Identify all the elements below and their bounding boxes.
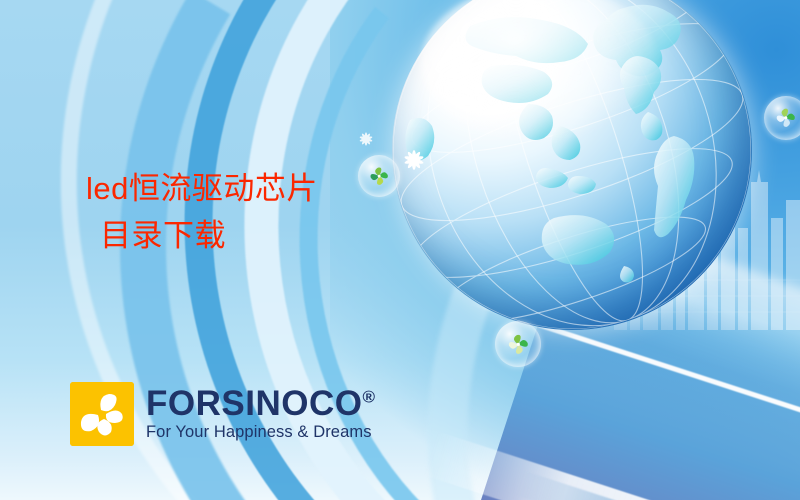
headline: led恒流驱动芯片 目录下载 bbox=[86, 165, 416, 259]
headline-line-2: 目录下载 bbox=[86, 212, 416, 259]
green-pinwheel-icon bbox=[505, 331, 532, 358]
banner-image: led恒流驱动芯片 目录下载 FORSINOCO® For Your Happi… bbox=[0, 0, 800, 500]
logo-wordmark: FORSINOCO® bbox=[146, 386, 375, 422]
headline-line-1: led恒流驱动芯片 bbox=[86, 165, 416, 212]
logo-tagline: For Your Happiness & Dreams bbox=[146, 423, 375, 442]
green-pinwheel-icon bbox=[773, 105, 799, 131]
company-logo: FORSINOCO® For Your Happiness & Dreams bbox=[70, 382, 375, 446]
globe-illustration bbox=[392, 0, 752, 330]
registered-trademark-symbol: ® bbox=[362, 387, 375, 406]
logo-wordmark-text: FORSINOCO bbox=[146, 384, 362, 423]
bubble-pinwheel-3 bbox=[764, 96, 800, 140]
four-petal-flower-icon bbox=[70, 382, 134, 446]
bubble-pinwheel-2 bbox=[495, 321, 541, 367]
logo-text-block: FORSINOCO® For Your Happiness & Dreams bbox=[146, 386, 375, 443]
flower-ornament-small-icon bbox=[355, 128, 377, 150]
